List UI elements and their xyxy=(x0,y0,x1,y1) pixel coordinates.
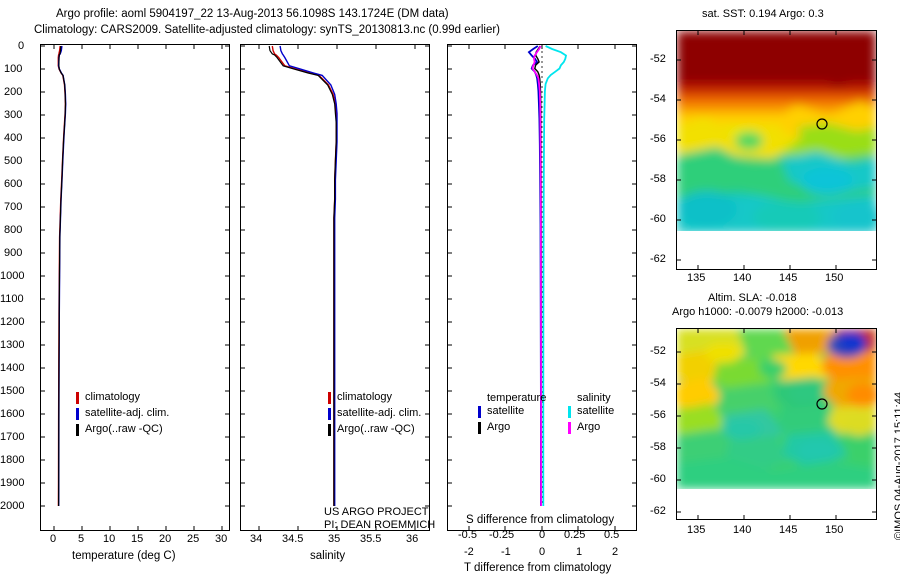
temperature-axis-label: temperature (deg C) xyxy=(72,550,176,562)
depth-tick-1400: 1400 xyxy=(0,362,24,374)
salinity-tick-35-5: 35.5 xyxy=(360,533,381,545)
sst-map-title: sat. SST: 0.194 Argo: 0.3 xyxy=(702,8,824,20)
sst-lon-tick-145: 145 xyxy=(779,272,797,284)
depth-tick-1100: 1100 xyxy=(0,293,24,305)
temperature-tick-15: 15 xyxy=(131,533,143,545)
sla-lon-tick-145: 145 xyxy=(779,524,797,536)
depth-tick-1000: 1000 xyxy=(0,270,24,282)
sla-lon-tick-140: 140 xyxy=(733,524,751,536)
legend-label-temperature-argo: Argo xyxy=(487,421,510,433)
page-title-line1: Argo profile: aoml 5904197_22 13-Aug-201… xyxy=(56,8,449,20)
sst-lat-tick-58: -58 xyxy=(650,173,666,185)
depth-tick-2000: 2000 xyxy=(0,500,24,512)
credit-wrapper: ©IMOS 04-Aug-2017 15:11:44 xyxy=(893,540,900,552)
difference-profile-plot xyxy=(447,44,637,531)
sst-lat-tick-54: -54 xyxy=(650,93,666,105)
tdiff-tick-neg1: -1 xyxy=(501,546,511,558)
tdiff-tick-2: 2 xyxy=(612,546,618,558)
salinity-tick-34-5: 34.5 xyxy=(282,533,303,545)
project-pi-line2: PI: DEAN ROEMMICH xyxy=(324,519,435,531)
difference-legend-temperature: temperature satellite Argo xyxy=(478,392,546,436)
sdiff-tick-neg05: -0.5 xyxy=(458,529,477,541)
salinity-tick-35: 35 xyxy=(328,533,340,545)
legend-label-climatology: climatology xyxy=(337,391,392,403)
tdiff-tick-1: 1 xyxy=(576,546,582,558)
sdiff-tick-05: 0.5 xyxy=(604,529,619,541)
temperature-tick-30: 30 xyxy=(215,533,227,545)
legend-swatch-climatology xyxy=(328,392,331,404)
temperature-tick-5: 5 xyxy=(78,533,84,545)
sst-lat-tick-62: -62 xyxy=(650,253,666,265)
depth-tick-300: 300 xyxy=(4,109,22,121)
legend-swatch-temperature-satellite xyxy=(478,406,481,418)
sla-lat-tick-62: -62 xyxy=(650,505,666,517)
temperature-tick-20: 20 xyxy=(159,533,171,545)
sla-lon-tick-150: 150 xyxy=(825,524,843,536)
depth-tick-400: 400 xyxy=(4,132,22,144)
sla-lat-tick-58: -58 xyxy=(650,441,666,453)
depth-tick-100: 100 xyxy=(4,63,22,75)
sla-lat-tick-52: -52 xyxy=(650,345,666,357)
depth-tick-700: 700 xyxy=(4,201,22,213)
legend-swatch-salinity-argo xyxy=(568,422,571,434)
legend-swatch-salinity-satellite xyxy=(568,406,571,418)
sdiff-tick-025: 0.25 xyxy=(564,529,585,541)
temperature-tick-0: 0 xyxy=(50,533,56,545)
imos-credit: ©IMOS 04-Aug-2017 15:11:44 xyxy=(893,392,900,540)
depth-tick-600: 600 xyxy=(4,178,22,190)
depth-tick-1300: 1300 xyxy=(0,339,24,351)
legend-label-climatology: climatology xyxy=(85,391,140,403)
depth-tick-200: 200 xyxy=(4,86,22,98)
sst-lon-tick-135: 135 xyxy=(687,272,705,284)
legend-label-satellite-adj: satellite-adj. clim. xyxy=(85,407,169,419)
salinity-tick-34: 34 xyxy=(250,533,262,545)
legend-swatch-climatology xyxy=(76,392,79,404)
salinity-difference-axis-label: S difference from climatology xyxy=(466,514,614,526)
salinity-tick-36: 36 xyxy=(406,533,418,545)
sst-lat-tick-56: -56 xyxy=(650,133,666,145)
legend-heading-salinity: salinity xyxy=(577,392,611,404)
depth-tick-800: 800 xyxy=(4,224,22,236)
sst-lon-tick-150: 150 xyxy=(825,272,843,284)
legend-swatch-argo xyxy=(328,424,331,436)
salinity-satellite-adj-curve xyxy=(280,46,337,506)
legend-swatch-argo xyxy=(76,424,79,436)
depth-tick-1600: 1600 xyxy=(0,408,24,420)
sst-map-ticks xyxy=(676,30,877,281)
temperature-ticks xyxy=(40,44,230,531)
sla-map-title-line2: Argo h1000: -0.0079 h2000: -0.013 xyxy=(672,306,843,318)
temperature-tick-25: 25 xyxy=(187,533,199,545)
legend-label-argo: Argo(..raw -QC) xyxy=(85,423,163,435)
legend-label-satellite-adj: satellite-adj. clim. xyxy=(337,407,421,419)
sst-lat-tick-52: -52 xyxy=(650,53,666,65)
depth-tick-1800: 1800 xyxy=(0,454,24,466)
temperature-satellite-diff-curve xyxy=(529,46,541,506)
sla-map-ticks xyxy=(676,328,877,529)
difference-legend-salinity: salinity satellite Argo xyxy=(568,392,611,436)
temperature-tick-10: 10 xyxy=(103,533,115,545)
sla-lat-tick-56: -56 xyxy=(650,409,666,421)
sla-lat-tick-60: -60 xyxy=(650,473,666,485)
salinity-profile-plot xyxy=(240,44,430,531)
legend-label-argo: Argo(..raw -QC) xyxy=(337,423,415,435)
page-title-line2: Climatology: CARS2009. Satellite-adjuste… xyxy=(34,24,500,36)
depth-tick-900: 900 xyxy=(4,247,22,259)
sla-lon-tick-135: 135 xyxy=(687,524,705,536)
depth-tick-1900: 1900 xyxy=(0,477,24,489)
project-name-line1: US ARGO PROJECT xyxy=(324,506,429,518)
temperature-profile-plot xyxy=(40,44,230,531)
temperature-difference-axis-label: T difference from climatology xyxy=(464,562,611,574)
legend-heading-temperature: temperature xyxy=(487,392,546,404)
salinity-argo-curve xyxy=(269,46,336,506)
salinity-satellite-diff-curve xyxy=(543,46,566,506)
legend-label-salinity-argo: Argo xyxy=(577,421,600,433)
sla-lat-tick-54: -54 xyxy=(650,377,666,389)
legend-swatch-satellite-adj xyxy=(76,408,79,420)
sla-map-title-line1: Altim. SLA: -0.018 xyxy=(708,292,797,304)
tdiff-tick-0: 0 xyxy=(539,546,545,558)
legend-label-temperature-satellite: satellite xyxy=(487,405,524,417)
salinity-climatology-curve xyxy=(272,46,336,506)
depth-tick-1700: 1700 xyxy=(0,431,24,443)
sst-lon-tick-140: 140 xyxy=(733,272,751,284)
sdiff-tick-neg025: -0.25 xyxy=(489,529,514,541)
legend-label-salinity-satellite: satellite xyxy=(577,405,614,417)
legend-swatch-temperature-argo xyxy=(478,422,481,434)
salinity-axis-label: salinity xyxy=(310,550,345,562)
depth-tick-1500: 1500 xyxy=(0,385,24,397)
sst-lat-tick-60: -60 xyxy=(650,213,666,225)
depth-tick-1200: 1200 xyxy=(0,316,24,328)
sdiff-tick-0: 0 xyxy=(539,529,545,541)
tdiff-tick-neg2: -2 xyxy=(464,546,474,558)
depth-tick-0: 0 xyxy=(18,40,24,52)
depth-tick-500: 500 xyxy=(4,155,22,167)
legend-swatch-satellite-adj xyxy=(328,408,331,420)
